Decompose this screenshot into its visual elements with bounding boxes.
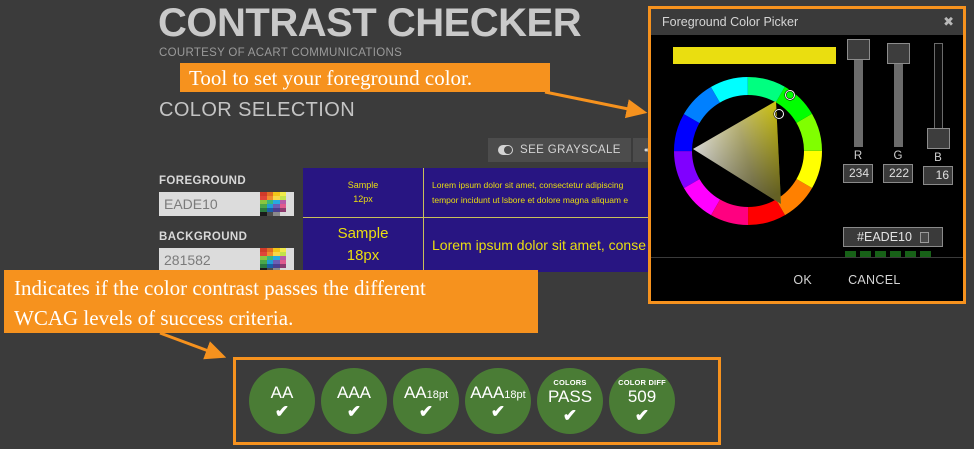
hex-value-field[interactable]: #EADE10 <box>843 227 943 247</box>
copy-icon[interactable] <box>920 232 929 243</box>
check-icon: ✔ <box>347 403 361 420</box>
callout-foreground-tool: Tool to set your foreground color. <box>180 63 550 92</box>
color-preview-swatch <box>673 47 836 64</box>
sample-cell-12px: Sample 12px <box>303 168 424 217</box>
check-icon: ✔ <box>635 407 649 424</box>
badge-main: AA18pt <box>404 384 448 401</box>
foreground-label: FOREGROUND <box>159 175 246 187</box>
lorem-line-2: tempor incidunt ut lsbore et dolore magn… <box>432 193 655 207</box>
color-swatch-icon[interactable] <box>260 248 286 272</box>
background-label: BACKGROUND <box>159 231 247 243</box>
badge-aa-18pt[interactable]: AA18pt ✔ <box>393 368 459 434</box>
dialog-titlebar[interactable]: Foreground Color Picker ✖ <box>651 9 963 35</box>
sample-size: 18px <box>347 245 380 268</box>
slider-label-g: G <box>894 150 903 162</box>
page-subtitle: COURTESY OF ACART COMMUNICATIONS <box>159 47 402 59</box>
slider-knob-b[interactable] <box>927 128 950 149</box>
sample-cell-18px: Sample 18px <box>303 218 424 272</box>
dialog-body: R 234 G 222 B 16 <box>651 35 963 257</box>
check-icon: ✔ <box>419 403 433 420</box>
sample-label: Sample <box>348 179 379 192</box>
see-grayscale-label: SEE GRAYSCALE <box>520 144 621 156</box>
slider-r[interactable]: R 234 <box>843 43 873 185</box>
slider-label-b: B <box>934 152 942 164</box>
slider-track-g[interactable] <box>894 43 903 147</box>
badge-main: 509 <box>628 388 656 405</box>
toggle-icon <box>498 145 513 155</box>
lorem-line-1: Lorem ipsum dolor sit amet, conse <box>432 235 655 256</box>
section-title: COLOR SELECTION <box>159 99 355 122</box>
slider-track-r[interactable] <box>854 43 863 147</box>
badge-aa[interactable]: AA ✔ <box>249 368 315 434</box>
wcag-results-panel: AA ✔ AAA ✔ AA18pt ✔ AAA18pt ✔ COLORS PAS… <box>233 357 721 445</box>
slider-g[interactable]: G 222 <box>883 43 913 185</box>
page-title: CONTRAST CHECKER <box>158 2 581 44</box>
see-grayscale-button[interactable]: SEE GRAYSCALE <box>488 138 631 162</box>
badge-kicker: COLOR DIFF <box>618 378 666 387</box>
rgb-sliders: R 234 G 222 B 16 <box>843 43 953 185</box>
check-icon: ✔ <box>491 403 505 420</box>
lorem-line-1: Lorem ipsum dolor sit amet, consectetur … <box>432 178 655 192</box>
close-icon[interactable]: ✖ <box>943 14 954 30</box>
slider-value-r[interactable]: 234 <box>843 164 873 183</box>
color-wheel-icon[interactable] <box>668 71 828 231</box>
sample-preview-panel: Sample 12px Lorem ipsum dolor sit amet, … <box>303 168 663 272</box>
color-swatch-icon[interactable] <box>260 192 286 216</box>
background-hex-input[interactable] <box>159 252 260 268</box>
cancel-button[interactable]: CANCEL <box>848 273 901 287</box>
slider-label-r: R <box>854 150 862 162</box>
badge-main: AAA <box>337 384 371 401</box>
badge-aaa-18pt[interactable]: AAA18pt ✔ <box>465 368 531 434</box>
badge-color-diff[interactable]: COLOR DIFF 509 ✔ <box>609 368 675 434</box>
badge-kicker: COLORS <box>553 378 586 387</box>
badge-main: PASS <box>548 388 592 405</box>
callout-line-1: Indicates if the color contrast passes t… <box>14 276 426 300</box>
lorem-cell-18px: Lorem ipsum dolor sit amet, conse <box>424 218 663 272</box>
foreground-input-wrap[interactable] <box>159 192 294 216</box>
callout-wcag-levels: Indicates if the color contrast passes t… <box>4 270 538 333</box>
slider-value-g[interactable]: 222 <box>883 164 913 183</box>
dialog-title: Foreground Color Picker <box>662 15 798 29</box>
hex-value-text: #EADE10 <box>857 230 912 244</box>
background-input-wrap[interactable] <box>159 248 294 272</box>
badge-main: AA <box>271 384 294 401</box>
foreground-hex-input[interactable] <box>159 196 260 212</box>
slider-knob-r[interactable] <box>847 39 870 60</box>
check-icon: ✔ <box>563 407 577 424</box>
lorem-cell-12px: Lorem ipsum dolor sit amet, consectetur … <box>424 168 663 217</box>
slider-b[interactable]: B 16 <box>923 43 953 185</box>
slider-track-b[interactable] <box>934 43 943 149</box>
slider-value-b[interactable]: 16 <box>923 166 953 185</box>
badge-colors[interactable]: COLORS PASS ✔ <box>537 368 603 434</box>
check-icon: ✔ <box>275 403 289 420</box>
contrast-checker-screen: CONTRAST CHECKER COURTESY OF ACART COMMU… <box>0 0 974 449</box>
slider-knob-g[interactable] <box>887 43 910 64</box>
sample-label: Sample <box>338 223 389 246</box>
dialog-footer: OK CANCEL <box>651 257 963 301</box>
sample-row: Sample 12px Lorem ipsum dolor sit amet, … <box>303 168 663 218</box>
sample-size: 12px <box>353 193 373 206</box>
ok-button[interactable]: OK <box>793 273 812 287</box>
badge-main: AAA18pt <box>470 384 525 401</box>
sample-row: Sample 18px Lorem ipsum dolor sit amet, … <box>303 218 663 272</box>
foreground-color-picker-dialog: Foreground Color Picker ✖ <box>648 6 966 304</box>
callout-line-2: WCAG levels of success criteria. <box>14 303 538 333</box>
badge-aaa[interactable]: AAA ✔ <box>321 368 387 434</box>
